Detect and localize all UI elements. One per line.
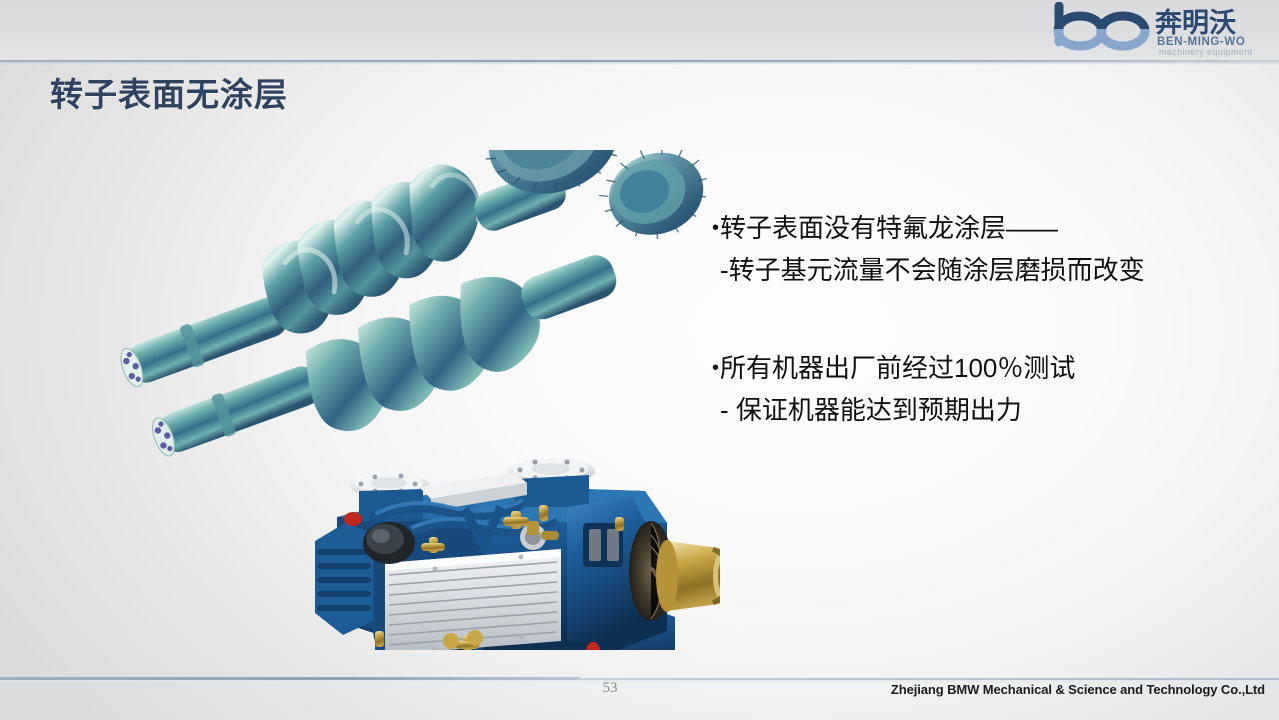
header-divider-glow: [0, 62, 1279, 65]
oil-filter: [363, 522, 415, 564]
company-logo[interactable]: 奔明沃 BEN-MING-WO machinery equipment: [1047, 2, 1269, 58]
timing-gear-small: [590, 150, 720, 254]
slide: 奔明沃 BEN-MING-WO machinery equipment 转子表面…: [0, 0, 1279, 720]
product-illustration: [60, 150, 720, 650]
screw-compressor-unit: [315, 457, 720, 650]
bullet-content: 转子表面没有特氟龙涂层—— -转子基元流量不会随涂层磨损而改变 所有机器出厂前经…: [712, 207, 1252, 431]
logo-tagline: machinery equipment: [1159, 47, 1253, 57]
sight-glass-1: [443, 633, 459, 649]
sight-glass-2: [467, 630, 483, 646]
twin-screw-rotors: [82, 150, 720, 498]
bullet-group-1: 转子表面没有特氟龙涂层—— -转子基元流量不会随涂层磨损而改变: [712, 207, 1252, 291]
bullet-group-2: 所有机器出厂前经过100％测试 - 保证机器能达到预期出力: [712, 347, 1252, 431]
red-cap-left: [344, 512, 362, 526]
bullet-1-sub: -转子基元流量不会随涂层磨损而改变: [712, 249, 1252, 291]
bullet-1-lead: 转子表面没有特氟龙涂层——: [712, 207, 1252, 249]
bullet-2-sub: - 保证机器能达到预期出力: [712, 389, 1252, 431]
logo-chinese-name: 奔明沃: [1155, 8, 1236, 39]
page-number: 53: [586, 680, 634, 697]
page-title: 转子表面无涂层: [50, 74, 288, 115]
bullet-2-lead: 所有机器出厂前经过100％测试: [712, 347, 1252, 389]
footer-company-name: Zhejiang BMW Mechanical & Science and Te…: [891, 682, 1265, 697]
